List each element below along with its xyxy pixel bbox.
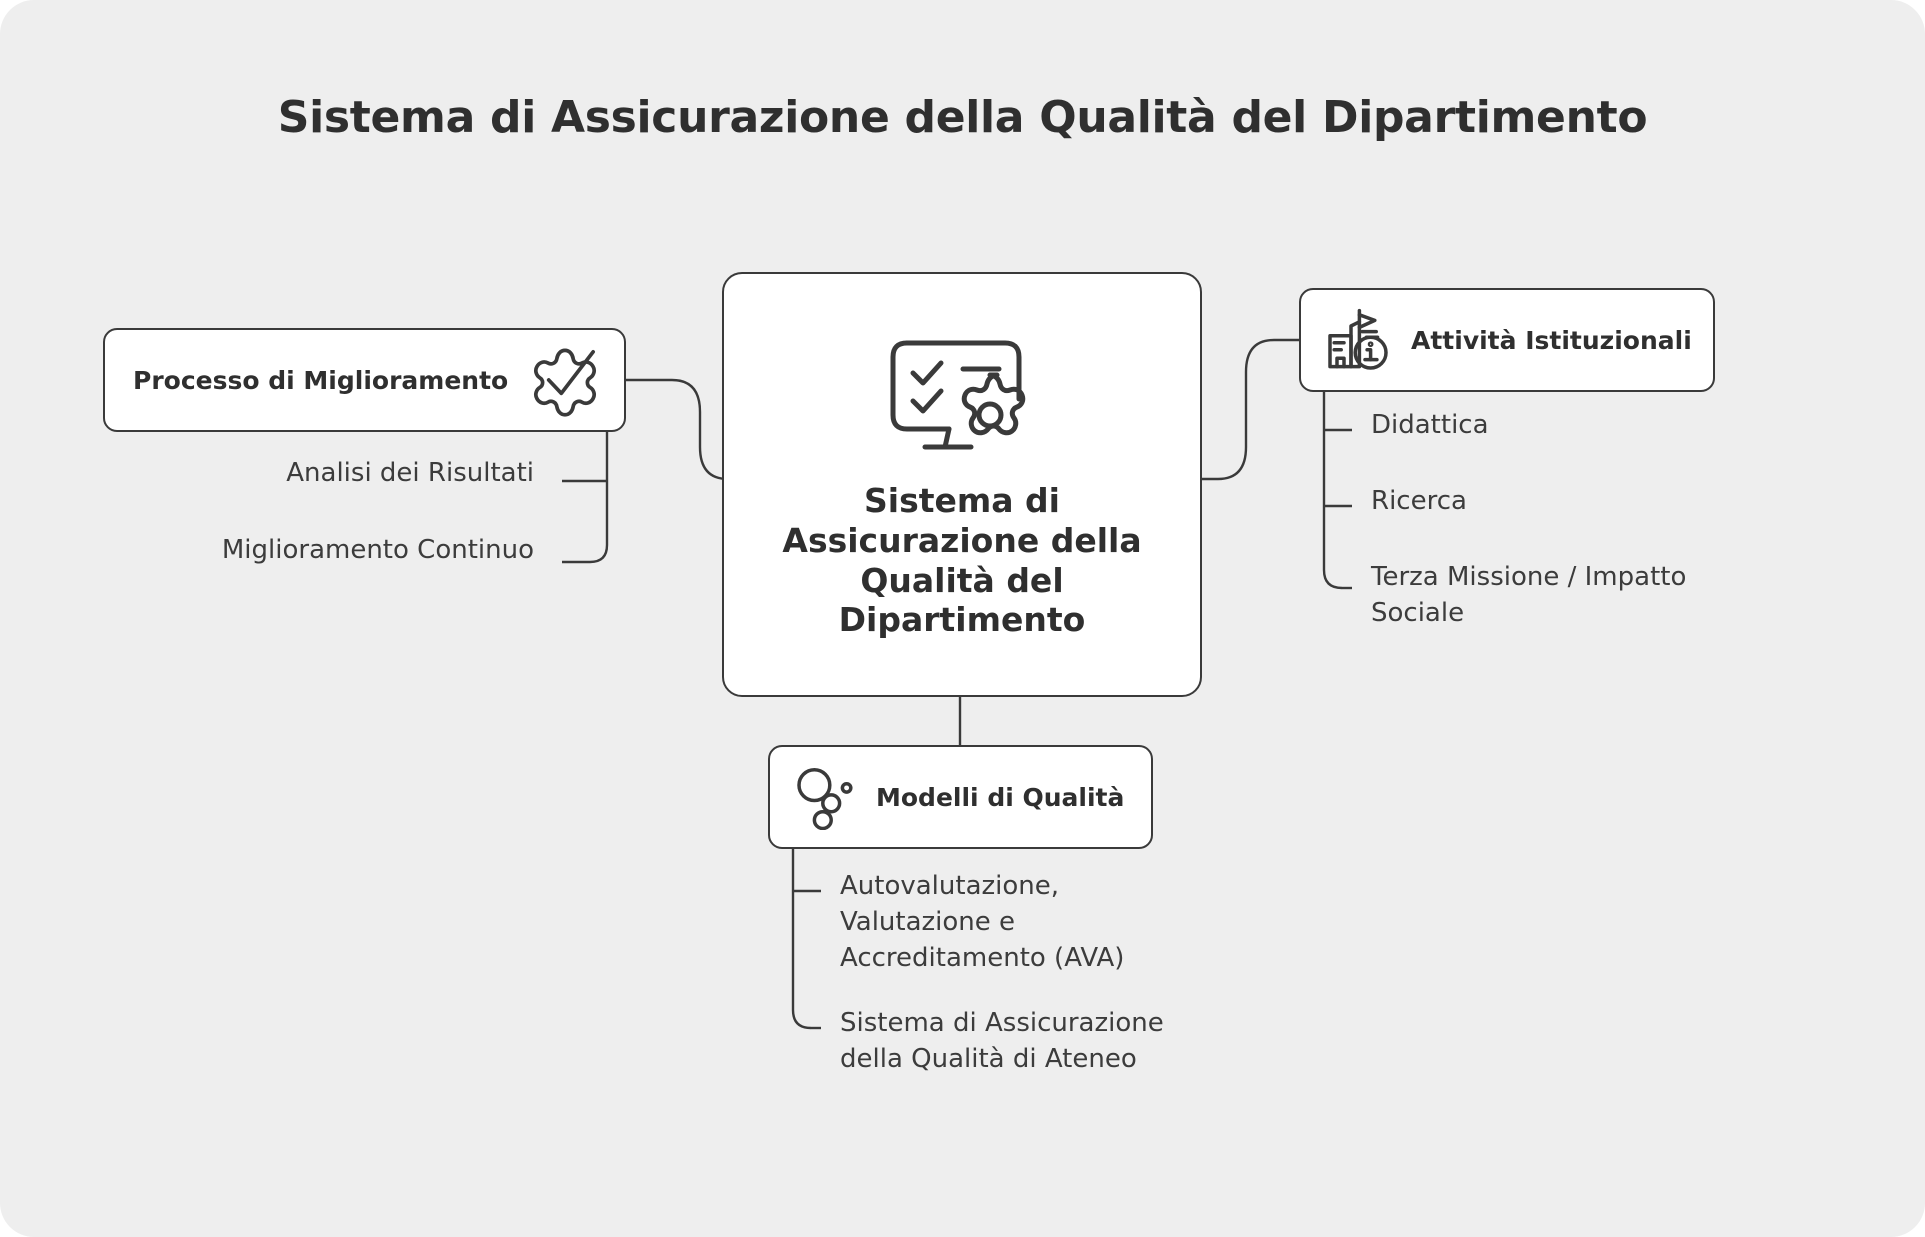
center-node-title: Sistema di Assicurazione della Qualità d… [782,481,1141,641]
connector-right-branch-spine [1324,392,1342,588]
leaf-autovalutazione-valutazione-accreditamento-ava: Autovalutazione, Valutazione e Accredita… [840,869,1170,977]
connector-center-to-right-branch [1202,340,1299,479]
leaf-analisi-dei-risultati: Analisi dei Risultati [286,456,534,492]
connector-left-branch-spine [590,432,607,562]
leaf-terza-missione-impatto-sociale: Terza Missione / Impatto Sociale [1371,560,1743,632]
center-title-line-4: Dipartimento [782,600,1141,640]
connector-center-to-left-branch [626,380,728,479]
leaf-didattica: Didattica [1371,408,1489,444]
branch-label-processo-di-miglioramento: Processo di Miglioramento [133,366,508,395]
branch-node-modelli-di-qualita[interactable]: Modelli di Qualità [768,745,1153,849]
leaf-miglioramento-continuo: Miglioramento Continuo [222,533,534,569]
mindmap-canvas: Sistema di Assicurazione della Qualità d… [0,0,1925,1237]
branch-label-attivita-istituzionali: Attività Istituzionali [1411,326,1692,355]
gear-check-icon [528,343,602,417]
center-title-line-1: Sistema di [782,481,1141,521]
center-node[interactable]: Sistema di Assicurazione della Qualità d… [722,272,1202,697]
bubbles-circles-icon [792,764,862,830]
building-info-icon [1323,305,1393,375]
leaf-sistema-assicurazione-qualita-ateneo: Sistema di Assicurazione della Qualità d… [840,1006,1215,1078]
page-title: Sistema di Assicurazione della Qualità d… [0,92,1925,143]
branch-node-attivita-istituzionali[interactable]: Attività Istituzionali [1299,288,1715,392]
screen-checklist-gear-icon [887,329,1037,455]
leaf-ricerca: Ricerca [1371,484,1467,520]
center-title-line-3: Qualità del [782,561,1141,601]
center-icon-wrap [887,329,1037,455]
center-title-line-2: Assicurazione della [782,521,1141,561]
connector-bottom-branch-spine [793,849,811,1028]
branch-label-modelli-di-qualita: Modelli di Qualità [876,783,1124,812]
branch-node-processo-di-miglioramento[interactable]: Processo di Miglioramento [103,328,626,432]
